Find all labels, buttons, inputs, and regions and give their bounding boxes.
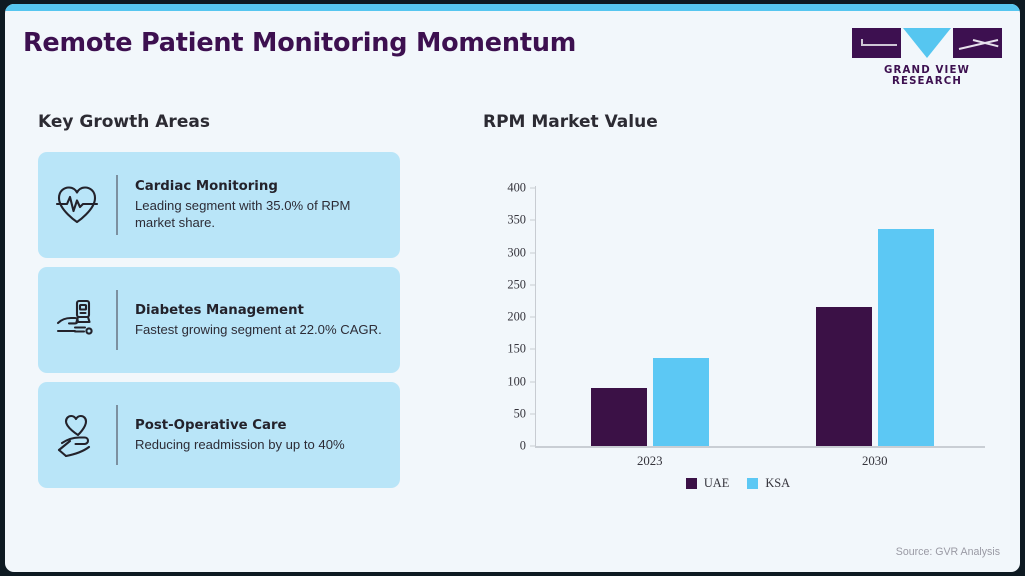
growth-area-card[interactable]: Cardiac MonitoringLeading segment with 3…	[38, 152, 400, 258]
source-note: Source: GVR Analysis	[896, 546, 1000, 558]
legend-label: KSA	[765, 476, 790, 491]
x-axis-tick-label: 2023	[637, 454, 663, 469]
bar-ksa-2030[interactable]	[878, 229, 934, 446]
infographic-card: Remote Patient Monitoring Momentum GRAND…	[5, 4, 1020, 572]
right-section-heading: RPM Market Value	[483, 112, 658, 132]
y-axis-tick-mark	[530, 317, 535, 318]
card-title: Post-Operative Care	[135, 418, 345, 433]
logo-triangle-icon	[903, 28, 951, 58]
logo-marks	[852, 28, 1002, 58]
glucose-meter-hand-icon	[38, 298, 116, 342]
growth-area-card-list: Cardiac MonitoringLeading segment with 3…	[38, 152, 400, 497]
rpm-market-value-chart: 05010015020025030035040020232030 UAEKSA	[483, 154, 993, 514]
heart-pulse-icon	[38, 184, 116, 226]
y-axis-tick-label: 100	[507, 374, 526, 389]
card-divider	[116, 175, 118, 235]
card-title: Diabetes Management	[135, 303, 382, 318]
y-axis-tick-label: 400	[507, 181, 526, 196]
card-title: Cardiac Monitoring	[135, 179, 388, 194]
y-axis-tick-label: 350	[507, 213, 526, 228]
logo-wordmark: GRAND VIEW RESEARCH	[852, 65, 1002, 87]
legend-swatch-icon	[747, 478, 758, 489]
legend-item-uae[interactable]: UAE	[686, 476, 729, 491]
card-divider	[116, 405, 118, 465]
legend-item-ksa[interactable]: KSA	[747, 476, 790, 491]
y-axis-tick-label: 300	[507, 245, 526, 260]
y-axis-tick-label: 250	[507, 277, 526, 292]
card-description: Leading segment with 35.0% of RPM market…	[135, 197, 388, 231]
card-body: Cardiac MonitoringLeading segment with 3…	[118, 179, 400, 231]
y-axis-tick-mark	[530, 446, 535, 447]
y-axis-tick-label: 150	[507, 342, 526, 357]
legend-swatch-icon	[686, 478, 697, 489]
card-description: Reducing readmission by up to 40%	[135, 436, 345, 453]
y-axis-tick-label: 0	[520, 439, 526, 454]
chart-legend: UAEKSA	[483, 476, 993, 491]
card-description: Fastest growing segment at 22.0% CAGR.	[135, 321, 382, 338]
card-body: Post-Operative CareReducing readmission …	[118, 418, 357, 453]
top-accent-bar	[5, 4, 1020, 11]
y-axis-tick-mark	[530, 220, 535, 221]
card-divider	[116, 290, 118, 350]
logo-right-block-icon	[953, 28, 1002, 58]
x-axis-tick-label: 2030	[862, 454, 888, 469]
page-title: Remote Patient Monitoring Momentum	[23, 28, 576, 58]
bar-uae-2023[interactable]	[591, 388, 647, 446]
y-axis-tick-mark	[530, 252, 535, 253]
left-section-heading: Key Growth Areas	[38, 112, 210, 132]
hand-heart-icon	[38, 413, 116, 457]
y-axis-tick-mark	[530, 188, 535, 189]
growth-area-card[interactable]: Post-Operative CareReducing readmission …	[38, 382, 400, 488]
growth-area-card[interactable]: Diabetes ManagementFastest growing segme…	[38, 267, 400, 373]
y-axis-tick-mark	[530, 284, 535, 285]
brand-logo: GRAND VIEW RESEARCH	[852, 28, 1002, 87]
logo-left-block-icon	[852, 28, 901, 58]
y-axis-tick-mark	[530, 349, 535, 350]
legend-label: UAE	[704, 476, 729, 491]
y-axis-line	[535, 186, 536, 448]
y-axis-tick-mark	[530, 413, 535, 414]
y-axis-tick-label: 200	[507, 310, 526, 325]
bar-uae-2030[interactable]	[816, 307, 872, 446]
x-axis-line	[535, 446, 985, 448]
y-axis-tick-mark	[530, 381, 535, 382]
card-body: Diabetes ManagementFastest growing segme…	[118, 303, 394, 338]
chart-plot-area: 05010015020025030035040020232030	[535, 186, 985, 448]
bar-ksa-2023[interactable]	[653, 358, 709, 446]
y-axis-tick-label: 50	[514, 406, 526, 421]
